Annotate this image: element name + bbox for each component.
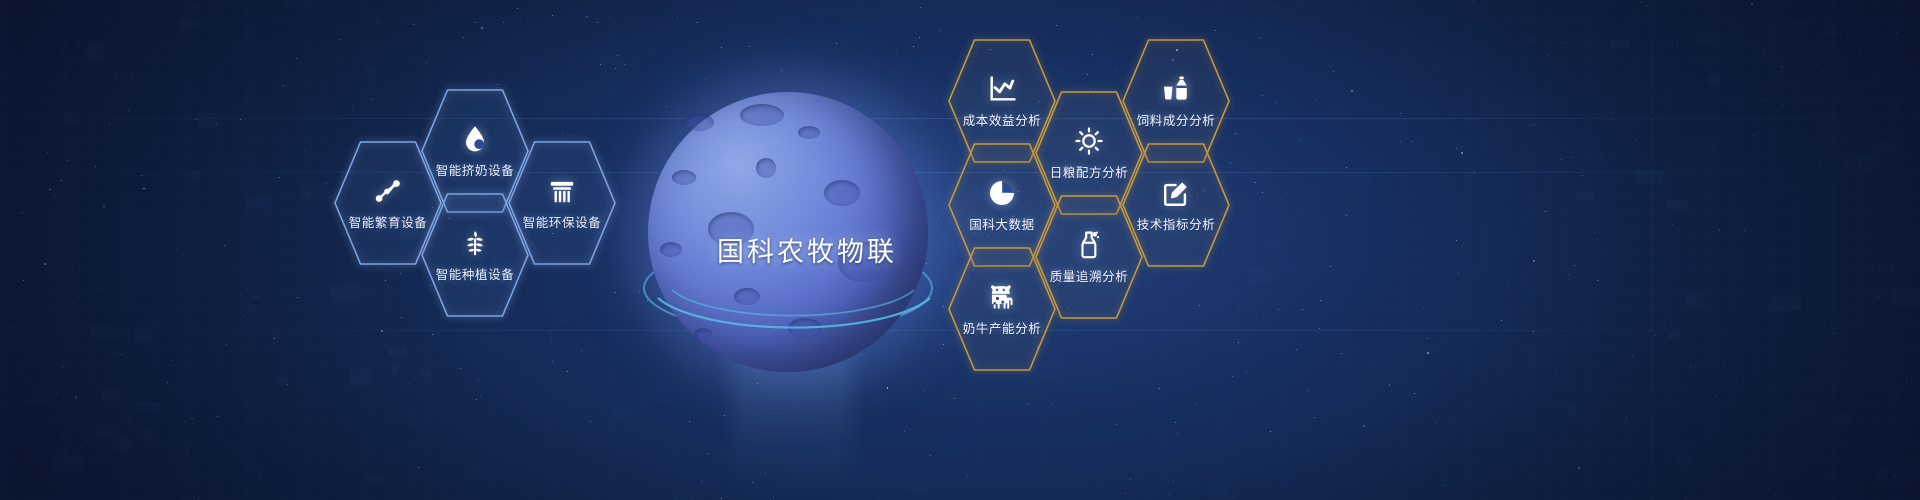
edit-pencil-icon xyxy=(1160,177,1192,209)
cow-icon xyxy=(986,281,1018,313)
hex-label: 质量追溯分析 xyxy=(1050,266,1129,285)
bottle-icon xyxy=(1073,229,1105,261)
hex-label: 饲料成分分析 xyxy=(1137,110,1216,129)
pie-chart-icon xyxy=(986,177,1018,209)
hex-label: 日粮配方分析 xyxy=(1050,162,1129,181)
sun-icon xyxy=(1073,125,1105,157)
hex-label: 技术指标分析 xyxy=(1137,214,1216,233)
right-hex-cluster: 成本效益分析饲料成分分析日粮配方分析国科大数据技术指标分析质量追溯分析奶牛产能分… xyxy=(0,0,1920,500)
banner-stage: 国科农牧物联 智能繁育设备智能挤奶设备智能种植设备智能环保设备 成本效益分析饲料… xyxy=(0,0,1920,500)
hex-label: 成本效益分析 xyxy=(963,110,1042,129)
hex-label: 奶牛产能分析 xyxy=(963,318,1042,337)
hex-label: 国科大数据 xyxy=(969,214,1035,233)
line-chart-icon xyxy=(986,73,1018,105)
hex-cell-cow-capacity[interactable]: 奶牛产能分析 xyxy=(947,246,1057,372)
milk-glass-icon xyxy=(1160,73,1192,105)
